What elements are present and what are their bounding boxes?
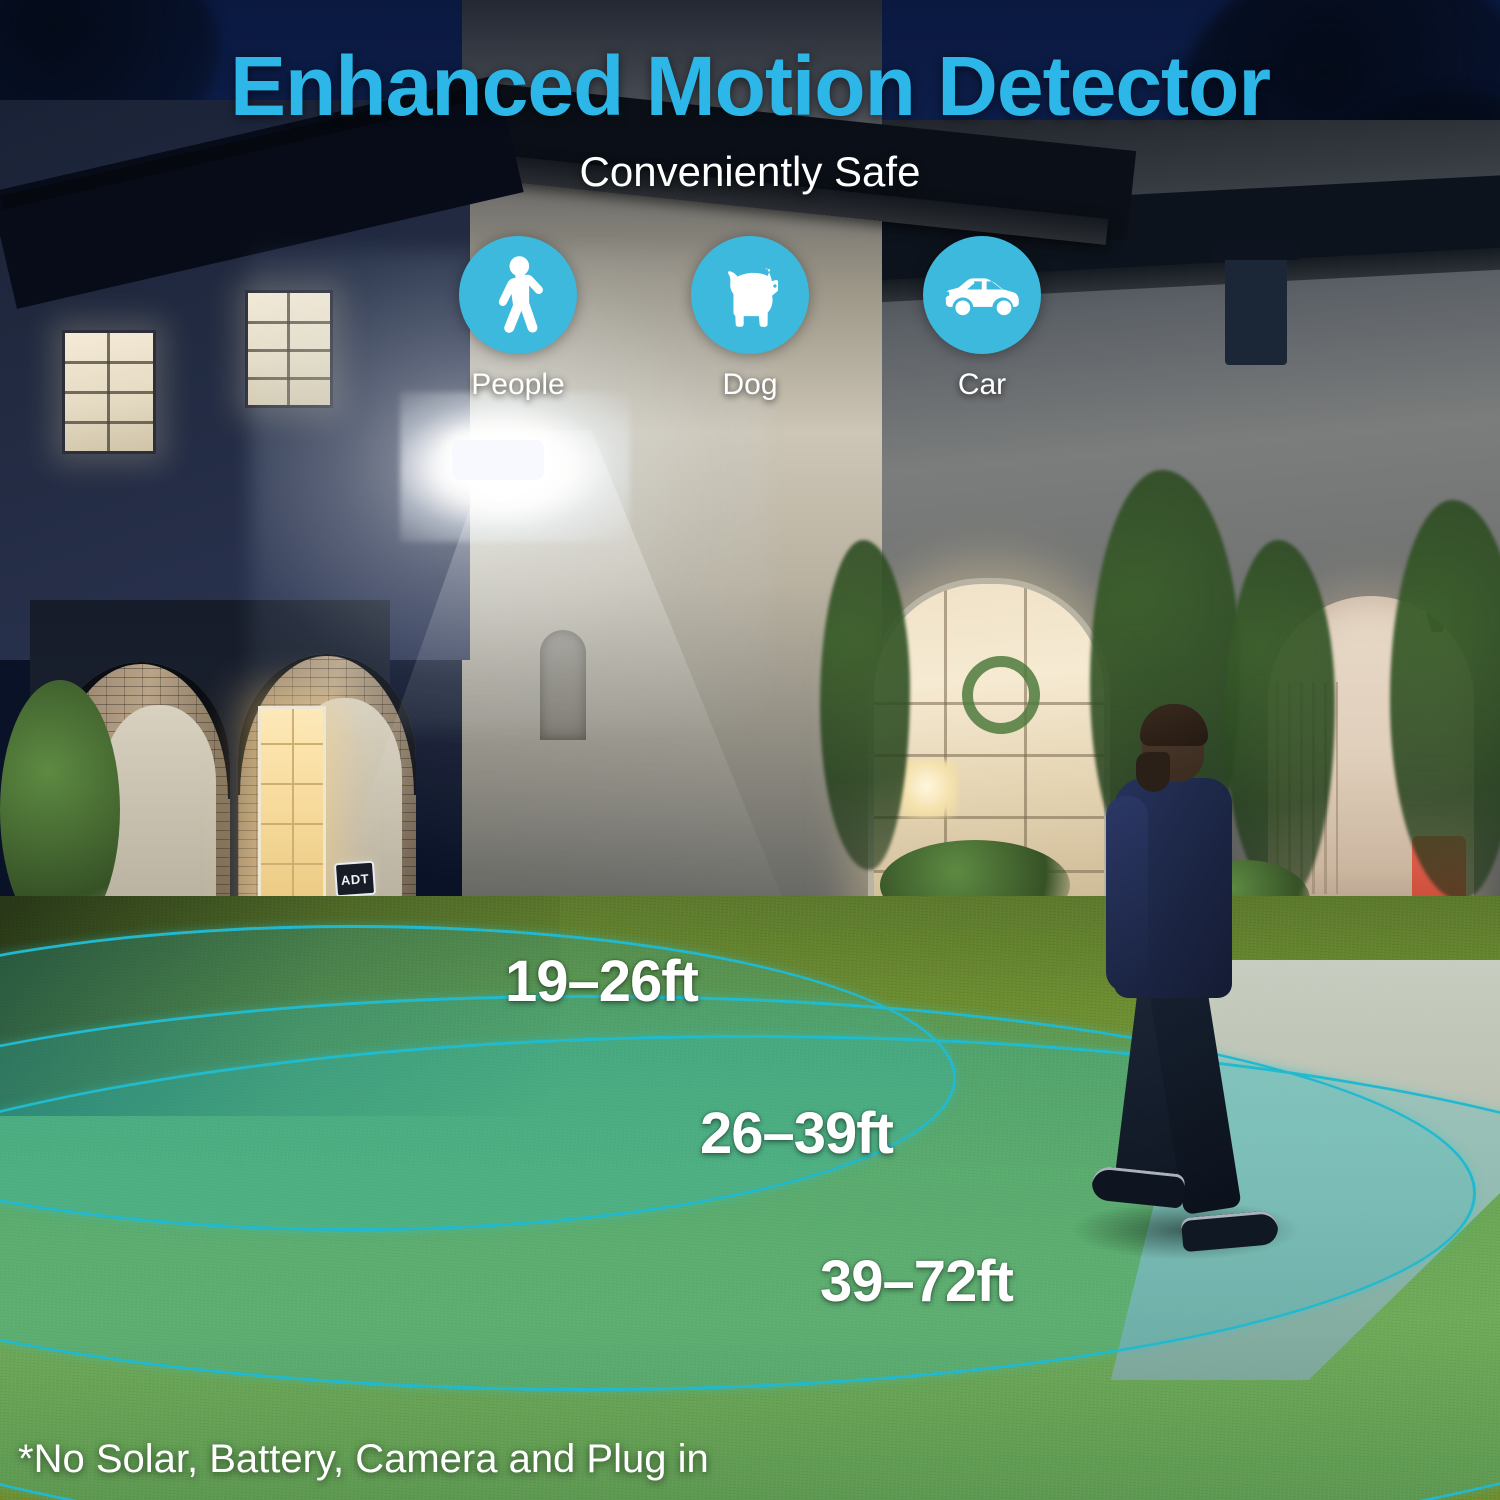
zone-range-label-middle: 26–39ft [700,1100,893,1167]
walking-person [1070,700,1290,1280]
header-block: Enhanced Motion Detector Conveniently Sa… [0,0,1500,196]
detection-target-dog: Dog [680,236,820,402]
walking-person-icon [476,253,560,337]
dog-icon-label: Dog [680,368,820,402]
floodlight-fixture [452,440,544,480]
person-arm [1106,796,1148,992]
detection-target-row: People Dog Car [0,236,1500,402]
car-icon-label: Car [912,368,1052,402]
person-beard [1136,752,1170,792]
page-subtitle: Conveniently Safe [0,128,1500,196]
person-hair [1140,704,1208,746]
product-feature-image: ADT [0,0,1500,1500]
dog-icon-badge [691,236,809,354]
people-icon-badge [459,236,577,354]
detection-target-car: Car [912,236,1052,402]
zone-range-label-outer: 39–72ft [820,1248,1013,1315]
car-icon [940,253,1024,337]
wreath-decoration [962,656,1040,734]
footnote-text: *No Solar, Battery, Camera and Plug in [18,1437,709,1482]
page-title: Enhanced Motion Detector [0,0,1500,128]
car-icon-badge [923,236,1041,354]
ivy-foliage [820,540,910,870]
dog-icon [708,253,792,337]
detection-target-people: People [448,236,588,402]
lit-entry-door [258,706,326,924]
zone-range-label-inner: 19–26ft [505,948,698,1015]
people-icon-label: People [448,368,588,402]
